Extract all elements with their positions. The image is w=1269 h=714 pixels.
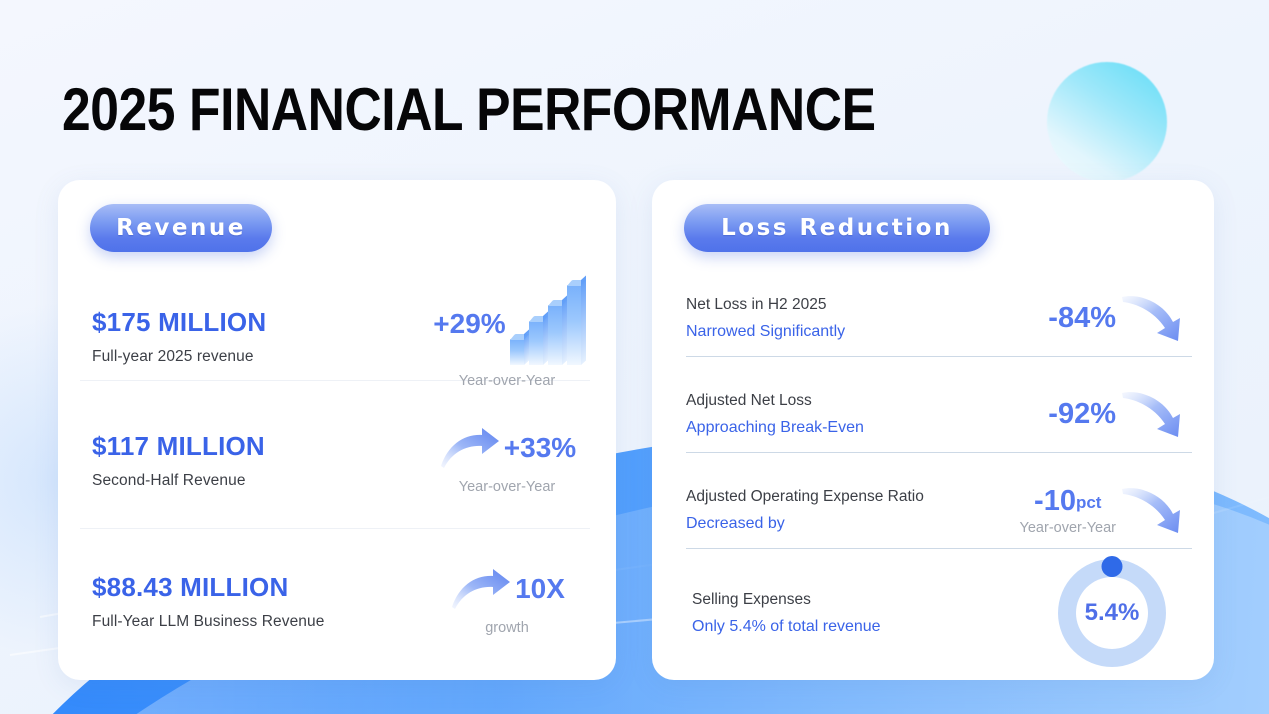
loss-row-4: Selling Expenses Only 5.4% of total reve… — [686, 565, 1194, 661]
loss-row-3-note: Year-over-Year — [1020, 520, 1116, 536]
donut-hole: 5.4% — [1076, 577, 1148, 649]
revenue-row-3-metric-inner: 10X — [449, 566, 565, 612]
loss-row-2-change: -92% — [1048, 398, 1116, 431]
revenue-row-3: $88.43 MILLION Full-Year LLM Business Re… — [92, 553, 592, 649]
revenue-row-3-label: Full-Year LLM Business Revenue — [92, 613, 324, 631]
revenue-row-2-value: $117 MILLION — [92, 431, 265, 462]
revenue-row-1-note: Year-over-Year — [459, 373, 555, 389]
loss-row-1-change: -84% — [1048, 302, 1116, 335]
revenue-row-2-metric: +33% Year-over-Year — [422, 425, 592, 495]
revenue-row-3-change: 10X — [515, 573, 565, 605]
loss-row-2: Adjusted Net Loss Approaching Break-Even… — [686, 376, 1194, 452]
loss-row-2-label: Adjusted Net Loss — [686, 392, 864, 410]
loss-row-3: Adjusted Operating Expense Ratio Decreas… — [686, 472, 1194, 548]
loss-row-1-text: Net Loss in H2 2025 Narrowed Significant… — [686, 296, 845, 341]
revenue-row-2-metric-inner: +33% — [438, 425, 576, 471]
loss-row-1-label: Net Loss in H2 2025 — [686, 296, 845, 314]
loss-row-4-sublabel: Only 5.4% of total revenue — [692, 618, 881, 636]
loss-row-3-metric: -10 pct Year-over-Year — [986, 483, 1194, 537]
loss-reduction-card-pill: Loss Reduction — [684, 204, 990, 252]
loss-row-4-label: Selling Expenses — [692, 591, 881, 609]
revenue-row-1-value: $175 MILLION — [92, 307, 266, 338]
revenue-row-2: $117 MILLION Second-Half Revenue +33% — [92, 412, 592, 508]
loss-row-3-metric-stack: -10 pct Year-over-Year — [1020, 485, 1116, 536]
loss-row-3-label: Adjusted Operating Expense Ratio — [686, 488, 924, 506]
loss-row-4-metric: 5.4% — [1034, 559, 1194, 667]
loss-divider-3 — [686, 548, 1192, 549]
loss-row-4-text: Selling Expenses Only 5.4% of total reve… — [686, 591, 881, 636]
loss-divider-1 — [686, 356, 1192, 357]
revenue-row-1-label: Full-year 2025 revenue — [92, 348, 266, 366]
revenue-row-3-metric: 10X growth — [422, 566, 592, 636]
arrow-curved-up-icon — [449, 566, 513, 612]
bar-3 — [548, 305, 562, 365]
revenue-row-2-label: Second-Half Revenue — [92, 472, 265, 490]
revenue-row-3-note: growth — [485, 620, 529, 636]
revenue-row-1-metric-inner: +29% — [433, 283, 580, 365]
loss-row-1: Net Loss in H2 2025 Narrowed Significant… — [686, 280, 1194, 356]
revenue-row-1-change: +29% — [433, 308, 505, 340]
page-title: 2025 FINANCIAL PERFORMANCE — [62, 76, 876, 144]
loss-row-3-sublabel: Decreased by — [686, 515, 924, 533]
arrow-curved-up-icon — [438, 425, 502, 471]
loss-row-3-change: -10 — [1034, 485, 1076, 518]
loss-row-2-sublabel: Approaching Break-Even — [686, 419, 864, 437]
revenue-row-3-text: $88.43 MILLION Full-Year LLM Business Re… — [92, 572, 324, 631]
revenue-row-1: $175 MILLION Full-year 2025 revenue +29%… — [92, 288, 592, 384]
loss-row-2-metric: -92% — [986, 387, 1194, 441]
loss-row-3-text: Adjusted Operating Expense Ratio Decreas… — [686, 488, 924, 533]
revenue-row-3-value: $88.43 MILLION — [92, 572, 324, 603]
bar-chart-ascending-icon — [510, 283, 581, 365]
revenue-row-2-note: Year-over-Year — [459, 479, 555, 495]
loss-row-2-text: Adjusted Net Loss Approaching Break-Even — [686, 392, 864, 437]
revenue-divider-2 — [80, 528, 590, 529]
donut-progress-icon: 5.4% — [1058, 559, 1166, 667]
bar-1 — [510, 339, 524, 365]
loss-row-1-metric: -84% — [986, 291, 1194, 345]
revenue-card: Revenue $175 MILLION Full-year 2025 reve… — [58, 180, 616, 680]
arrow-curved-down-icon — [1120, 483, 1190, 537]
loss-row-4-change: 5.4% — [1085, 599, 1140, 627]
loss-divider-2 — [686, 452, 1192, 453]
loss-row-3-metric-top: -10 pct — [1034, 485, 1101, 518]
arrow-curved-down-icon — [1120, 387, 1190, 441]
loss-reduction-card: Loss Reduction Net Loss in H2 2025 Narro… — [652, 180, 1214, 680]
revenue-row-1-text: $175 MILLION Full-year 2025 revenue — [92, 307, 266, 366]
arrow-curved-down-icon — [1120, 291, 1190, 345]
loss-row-3-unit: pct — [1076, 493, 1102, 518]
bar-2 — [529, 321, 543, 365]
revenue-row-1-metric: +29% Year-over-Year — [422, 283, 592, 389]
donut-progress-marker — [1102, 556, 1123, 577]
bar-4 — [567, 285, 581, 365]
decorative-cyan-circle — [1047, 62, 1167, 182]
revenue-card-pill: Revenue — [90, 204, 272, 252]
revenue-row-2-change: +33% — [504, 432, 576, 464]
loss-row-1-sublabel: Narrowed Significantly — [686, 323, 845, 341]
revenue-row-2-text: $117 MILLION Second-Half Revenue — [92, 431, 265, 490]
